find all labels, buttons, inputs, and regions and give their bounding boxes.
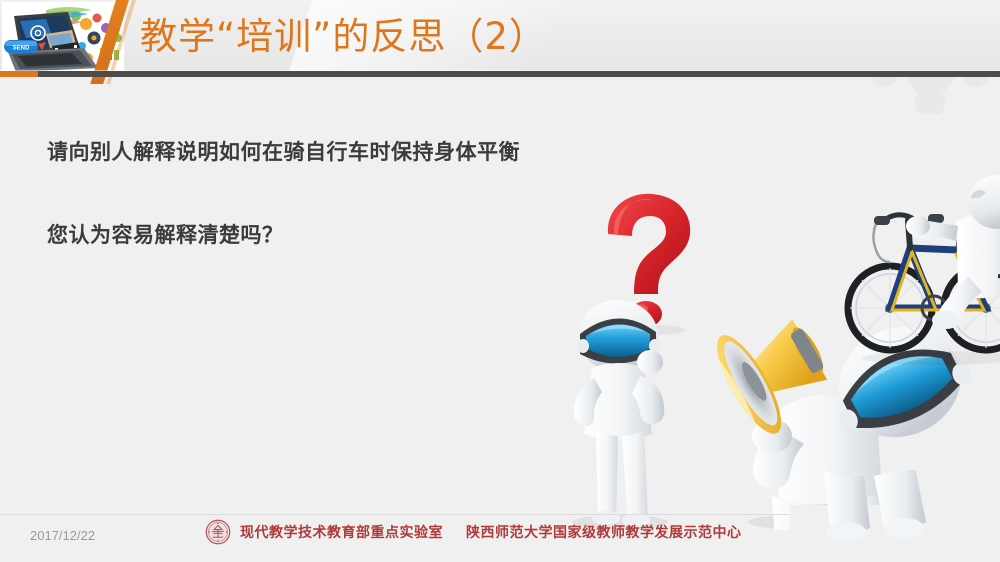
- footer-organization: 现代教学技术教育部重点实验室 陕西师范大学国家级教师教学发展示范中心: [205, 519, 742, 545]
- header-rule: [0, 71, 1000, 77]
- cyclist-on-bicycle-icon: [848, 175, 1000, 365]
- red-question-mark-icon: [608, 194, 690, 335]
- content-line-1: 请向别人解释说明如何在骑自行车时保持身体平衡: [47, 136, 520, 166]
- footer-center-name: 陕西师范大学国家级教师教学发展示范中心: [466, 522, 742, 542]
- header-rule-accent: [0, 71, 38, 77]
- footer-lab-name: 现代教学技术教育部重点实验室: [240, 522, 443, 542]
- svg-text:SEND: SEND: [13, 46, 30, 52]
- megaphone-figure-legs-overlay: [800, 470, 1000, 562]
- thinking-figure-icon: [572, 300, 668, 529]
- university-seal-icon: [205, 519, 231, 545]
- presentation-slide: SEND 教学“培训”的反思（2） 请向别人解释说明如何在骑自行车时保持身体平衡…: [0, 0, 1000, 562]
- megaphone-icon: [705, 297, 843, 441]
- footer-date: 2017/12/22: [30, 528, 95, 543]
- page-title: 教学“培训”的反思（2）: [140, 12, 547, 61]
- content-line-2: 您认为容易解释清楚吗？: [47, 219, 284, 249]
